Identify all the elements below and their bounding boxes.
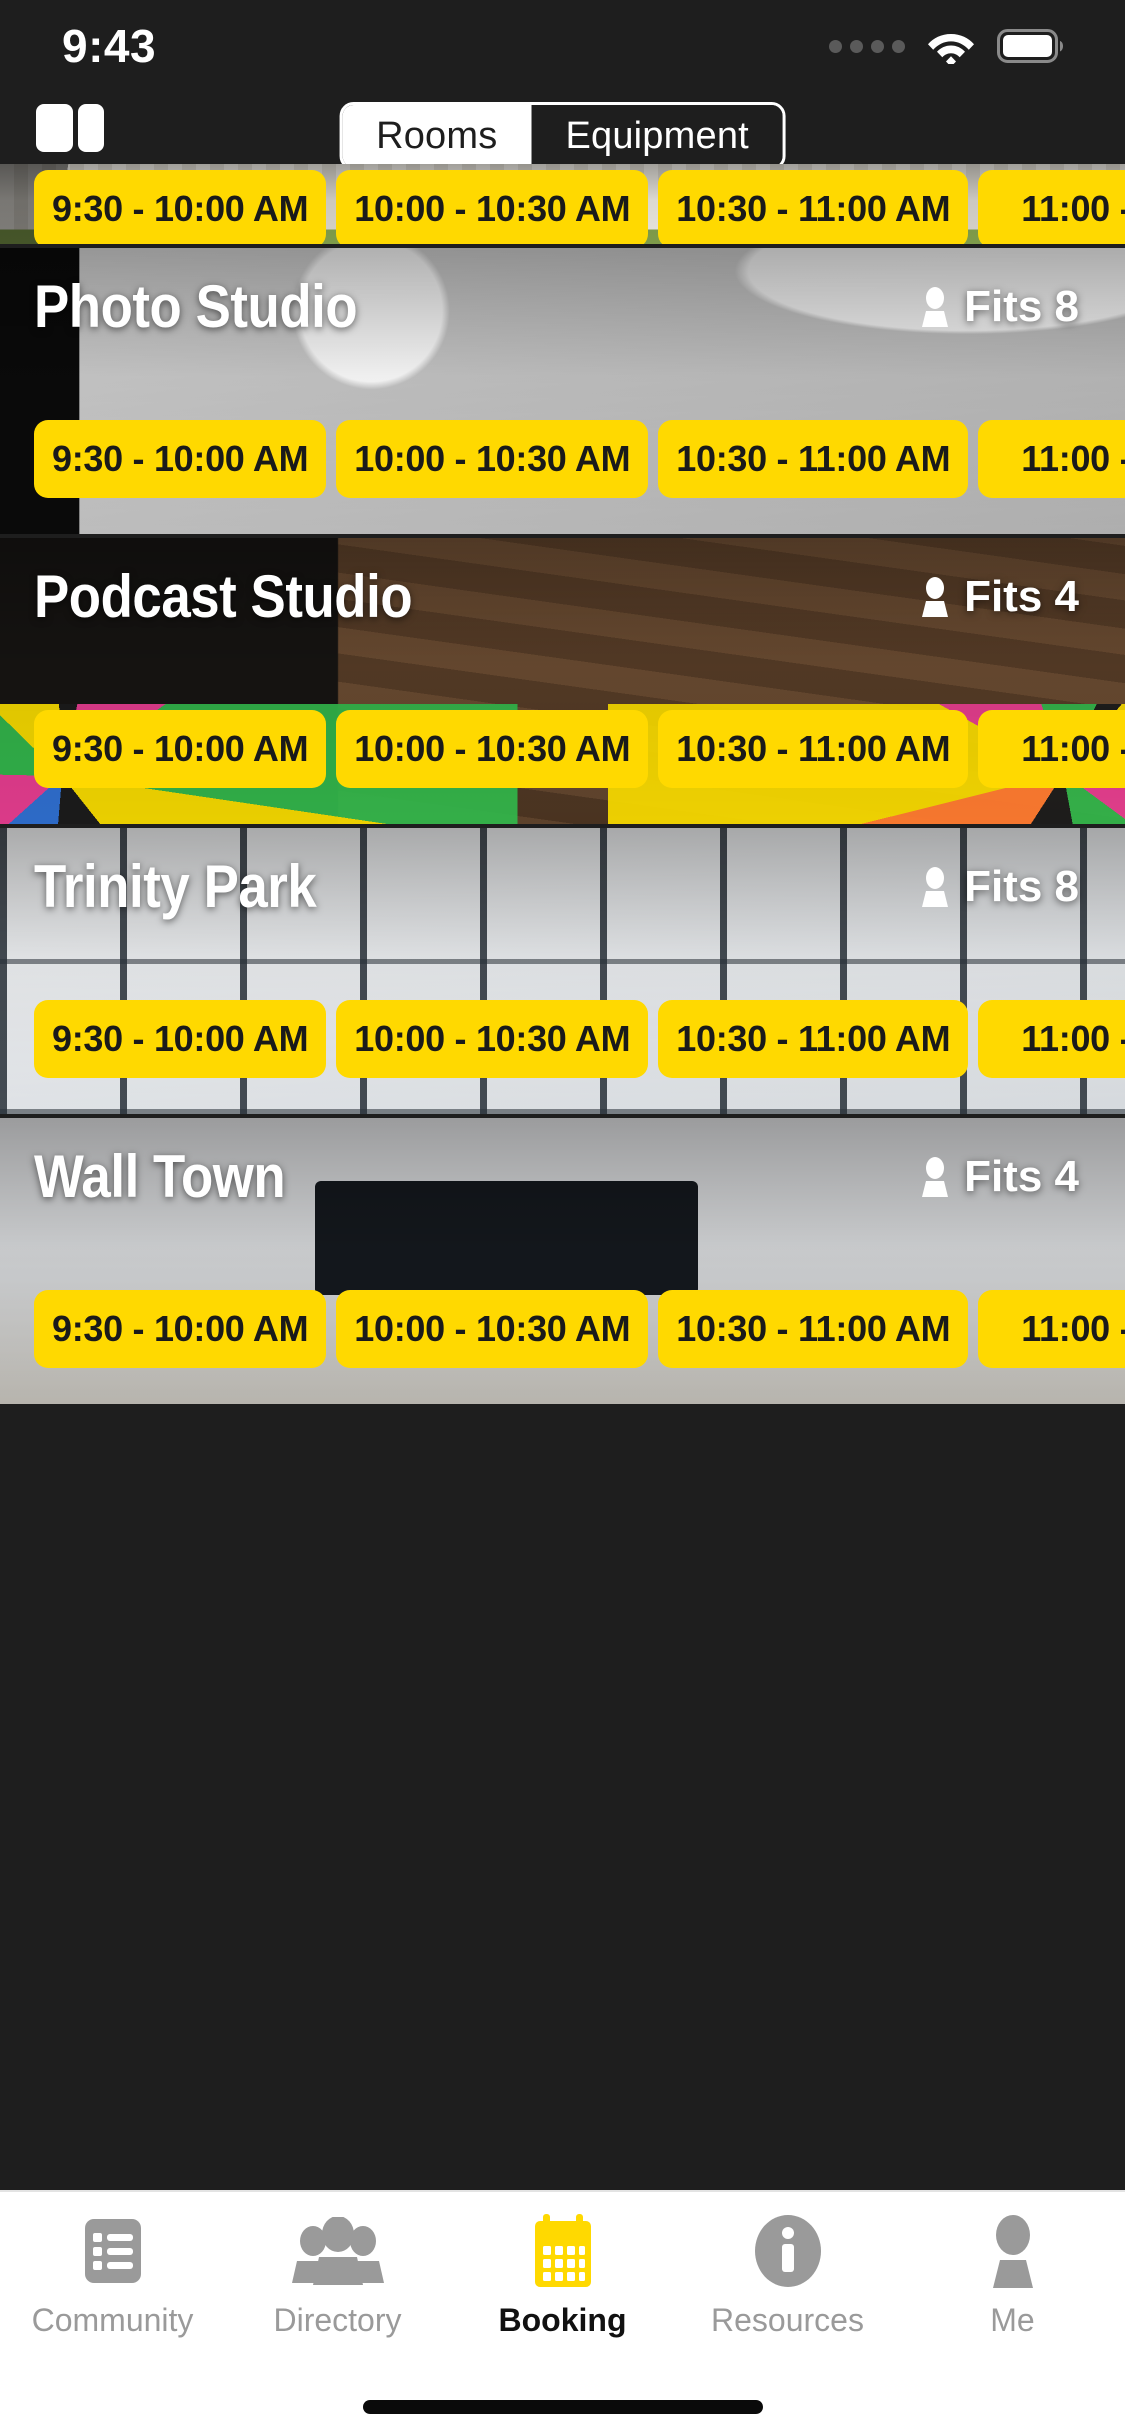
time-slot-row[interactable]: 9:30 - 10:00 AM 10:00 - 10:30 AM 10:30 -…: [0, 170, 1125, 248]
tab-label: Community: [32, 2302, 194, 2339]
room-card[interactable]: Trinity Park Fits 8 9:30 - 10:00 AM 10:0…: [0, 828, 1125, 1118]
time-slot-row[interactable]: 9:30 - 10:00 AM 10:00 - 10:30 AM 10:30 -…: [0, 1290, 1125, 1368]
time-slot-chip[interactable]: 10:00 - 10:30 AM: [336, 1290, 648, 1368]
person-icon: [918, 287, 952, 327]
rooms-equipment-segmented-control[interactable]: Rooms Equipment: [339, 102, 786, 170]
bottom-tab-bar: Community Directory: [0, 2190, 1125, 2436]
person-icon: [918, 867, 952, 907]
time-slot-chip[interactable]: 10:30 - 11:00 AM: [658, 1290, 968, 1368]
time-slot-chip[interactable]: 11:00 -: [978, 710, 1125, 788]
time-slot-chip[interactable]: 11:00 -: [978, 170, 1125, 248]
person-icon: [918, 1157, 952, 1197]
time-slot-chip[interactable]: 9:30 - 10:00 AM: [34, 170, 326, 248]
time-slot-chip[interactable]: 10:00 - 10:30 AM: [336, 1000, 648, 1078]
tab-label: Resources: [711, 2302, 864, 2339]
wifi-icon: [927, 28, 975, 64]
room-name: Photo Studio: [34, 272, 357, 341]
room-card[interactable]: 9:30 - 10:00 AM 10:00 - 10:30 AM 10:30 -…: [0, 164, 1125, 248]
status-bar: 9:43: [0, 0, 1125, 92]
time-slot-chip[interactable]: 10:30 - 11:00 AM: [658, 170, 968, 248]
list-document-icon: [81, 2214, 145, 2288]
battery-full-icon: [997, 29, 1067, 63]
status-bar-time: 9:43: [62, 19, 156, 73]
layout-split-icon[interactable]: [36, 104, 104, 152]
tab-booking[interactable]: Booking: [450, 2214, 675, 2339]
time-slot-row[interactable]: 9:30 - 10:00 AM 10:00 - 10:30 AM 10:30 -…: [0, 710, 1125, 788]
time-slot-chip[interactable]: 9:30 - 10:00 AM: [34, 710, 326, 788]
room-card[interactable]: Podcast Studio Fits 4 9:30 - 10:00 AM 10…: [0, 538, 1125, 828]
time-slot-chip[interactable]: 9:30 - 10:00 AM: [34, 420, 326, 498]
time-slot-chip[interactable]: 11:00 -: [978, 1290, 1125, 1368]
room-capacity-label: Fits 8: [964, 862, 1079, 912]
room-card-header: Trinity Park Fits 8: [0, 828, 1125, 921]
home-indicator: [363, 2400, 763, 2414]
time-slot-chip[interactable]: 10:00 - 10:30 AM: [336, 710, 648, 788]
room-capacity: Fits 8: [918, 862, 1091, 912]
person-icon: [980, 2214, 1046, 2288]
time-slot-chip[interactable]: 9:30 - 10:00 AM: [34, 1290, 326, 1368]
time-slot-row[interactable]: 9:30 - 10:00 AM 10:00 - 10:30 AM 10:30 -…: [0, 420, 1125, 498]
person-icon: [918, 577, 952, 617]
status-bar-indicators: [829, 28, 1067, 64]
room-capacity-label: Fits 4: [964, 572, 1079, 622]
room-capacity-label: Fits 4: [964, 1152, 1079, 1202]
time-slot-row[interactable]: 9:30 - 10:00 AM 10:00 - 10:30 AM 10:30 -…: [0, 1000, 1125, 1078]
time-slot-chip[interactable]: 10:00 - 10:30 AM: [336, 420, 648, 498]
room-name: Podcast Studio: [34, 562, 412, 631]
room-name: Wall Town: [34, 1142, 285, 1211]
room-card[interactable]: Wall Town Fits 4 9:30 - 10:00 AM 10:00 -…: [0, 1118, 1125, 1408]
time-slot-chip[interactable]: 10:30 - 11:00 AM: [658, 420, 968, 498]
tab-me[interactable]: Me: [900, 2214, 1125, 2339]
time-slot-chip[interactable]: 10:00 - 10:30 AM: [336, 170, 648, 248]
tab-label: Me: [990, 2302, 1034, 2339]
tab-label: Booking: [499, 2302, 627, 2339]
room-card[interactable]: Photo Studio Fits 8 9:30 - 10:00 AM 10:0…: [0, 248, 1125, 538]
time-slot-chip[interactable]: 11:00 -: [978, 420, 1125, 498]
time-slot-chip[interactable]: 10:30 - 11:00 AM: [658, 710, 968, 788]
time-slot-chip[interactable]: 9:30 - 10:00 AM: [34, 1000, 326, 1078]
tab-resources[interactable]: Resources: [675, 2214, 900, 2339]
signal-dots-icon: [829, 40, 905, 53]
room-list[interactable]: 9:30 - 10:00 AM 10:00 - 10:30 AM 10:30 -…: [0, 164, 1125, 2190]
room-card-header: Photo Studio Fits 8: [0, 248, 1125, 341]
room-capacity-label: Fits 8: [964, 282, 1079, 332]
calendar-icon: [527, 2214, 599, 2288]
room-capacity: Fits 4: [918, 572, 1091, 622]
tab-label: Directory: [273, 2302, 401, 2339]
tab-community[interactable]: Community: [0, 2214, 225, 2339]
tab-rooms[interactable]: Rooms: [342, 105, 531, 167]
tab-equipment[interactable]: Equipment: [531, 105, 782, 167]
room-card-header: Wall Town Fits 4: [0, 1118, 1125, 1211]
room-capacity: Fits 4: [918, 1152, 1091, 1202]
info-circle-icon: [753, 2214, 823, 2288]
room-name: Trinity Park: [34, 852, 316, 921]
people-group-icon: [288, 2214, 388, 2288]
tab-directory[interactable]: Directory: [225, 2214, 450, 2339]
nav-bar: Rooms Equipment: [0, 92, 1125, 164]
time-slot-chip[interactable]: 10:30 - 11:00 AM: [658, 1000, 968, 1078]
time-slot-chip[interactable]: 11:00 -: [978, 1000, 1125, 1078]
room-capacity: Fits 8: [918, 282, 1091, 332]
room-card-header: Podcast Studio Fits 4: [0, 538, 1125, 631]
